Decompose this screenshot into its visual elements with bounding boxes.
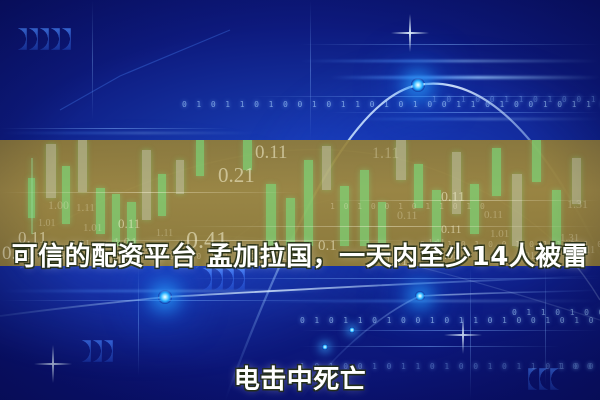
headline-text: 可信的配资平台 孟加拉国，一天内至少14人被雷 电击中死亡 — [0, 155, 600, 400]
news-banner-image: 0 1 0 1 1 0 1 0 0 1 0 1 1 0 1 0 1 0 0 1 … — [0, 0, 600, 400]
headline-line-1: 可信的配资平台 孟加拉国，一天内至少14人被雷 — [0, 237, 600, 278]
headline-line-2: 电击中死亡 — [0, 360, 600, 400]
